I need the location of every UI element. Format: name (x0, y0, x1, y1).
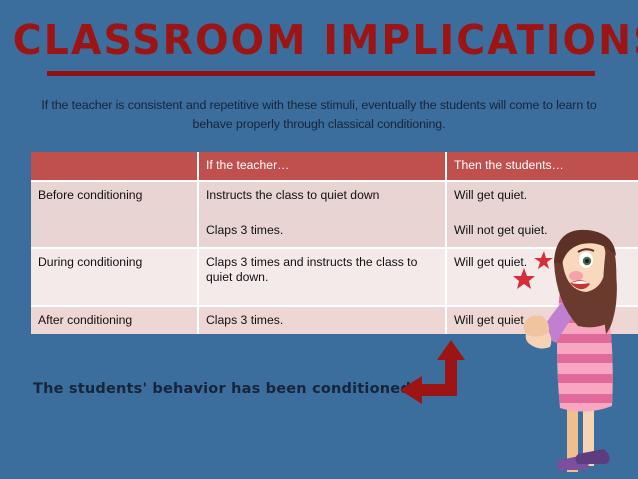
cell-line-1: Will get quiet. (454, 188, 638, 203)
eye-pupil (585, 259, 589, 263)
cell-stage-after: After conditioning (31, 307, 199, 334)
header-cell-stage (31, 152, 199, 182)
clapping-hands-icon (524, 316, 552, 349)
star-icon (513, 251, 553, 289)
cell-teacher-during: Claps 3 times and instructs the class to… (199, 249, 447, 307)
conclusion-caption: The students' behavior has been conditio… (33, 381, 418, 397)
clapping-girl-illustration (510, 228, 638, 479)
cheek (569, 271, 583, 281)
cell-teacher-after: Claps 3 times. (199, 307, 447, 334)
header-cell-students: Then the students… (447, 152, 638, 182)
page-title: CLASSROOM IMPLICATIONS (13, 16, 625, 64)
elbow-double-arrow-icon (400, 340, 480, 415)
slide-canvas: CLASSROOM IMPLICATIONS If the teacher is… (0, 0, 638, 479)
cell-stage-during: During conditioning (31, 249, 199, 307)
table-header: If the teacher… Then the students… (31, 152, 638, 182)
table-header-row: If the teacher… Then the students… (31, 152, 638, 182)
cell-line-1: Instructs the class to quiet down (206, 188, 437, 203)
cell-line-2: Claps 3 times. (206, 223, 437, 238)
header-cell-teacher: If the teacher… (199, 152, 447, 182)
cell-stage-before: Before conditioning (31, 182, 199, 249)
cell-teacher-before: Instructs the class to quiet down Claps … (199, 182, 447, 249)
title-underline-rule (47, 71, 595, 76)
subtitle-text: If the teacher is consistent and repetit… (34, 96, 604, 134)
